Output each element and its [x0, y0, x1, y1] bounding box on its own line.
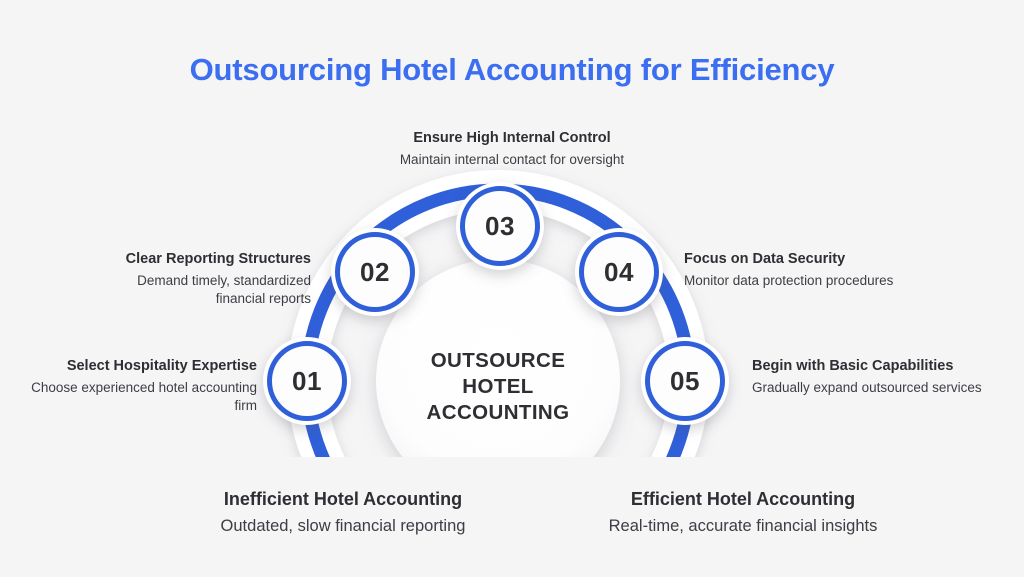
- step-ring-02: 02: [335, 232, 415, 312]
- step-callout-05: Begin with Basic Capabilities Gradually …: [752, 357, 992, 397]
- step-node-04[interactable]: 04: [575, 228, 663, 316]
- step-heading-02: Clear Reporting Structures: [85, 250, 311, 269]
- step-subtext-04: Monitor data protection procedures: [684, 272, 944, 290]
- step-node-03[interactable]: 03: [456, 182, 544, 270]
- step-subtext-02: Demand timely, standardized financial re…: [85, 272, 311, 308]
- center-label-line-1: OUTSOURCE: [393, 348, 603, 374]
- bottom-caption-heading-right: Efficient Hotel Accounting: [508, 487, 978, 511]
- step-number-04: 04: [604, 257, 634, 288]
- step-callout-01: Select Hospitality Expertise Choose expe…: [22, 357, 257, 415]
- step-ring-04: 04: [579, 232, 659, 312]
- step-number-05: 05: [670, 366, 700, 397]
- step-subtext-03: Maintain internal contact for oversight: [344, 151, 680, 169]
- step-ring-05: 05: [645, 341, 725, 421]
- center-label-line-3: ACCOUNTING: [393, 400, 603, 426]
- step-heading-05: Begin with Basic Capabilities: [752, 357, 992, 376]
- center-label-line-2: HOTEL: [393, 374, 603, 400]
- step-callout-02: Clear Reporting Structures Demand timely…: [85, 250, 311, 308]
- step-node-05[interactable]: 05: [641, 337, 729, 425]
- step-heading-01: Select Hospitality Expertise: [22, 357, 257, 376]
- step-node-02[interactable]: 02: [331, 228, 419, 316]
- step-number-01: 01: [292, 366, 322, 397]
- step-heading-04: Focus on Data Security: [684, 250, 944, 269]
- infographic-canvas: Outsourcing Hotel Accounting for Efficie…: [0, 0, 1024, 577]
- center-label: OUTSOURCE HOTEL ACCOUNTING: [393, 348, 603, 426]
- step-number-03: 03: [485, 211, 515, 242]
- bottom-caption-subtext-right: Real-time, accurate financial insights: [508, 515, 978, 537]
- step-number-02: 02: [360, 257, 390, 288]
- step-subtext-01: Choose experienced hotel accounting firm: [22, 379, 257, 415]
- step-heading-03: Ensure High Internal Control: [344, 129, 680, 148]
- step-callout-04: Focus on Data Security Monitor data prot…: [684, 250, 944, 290]
- bottom-caption-efficient: Efficient Hotel Accounting Real-time, ac…: [508, 487, 978, 537]
- step-node-01[interactable]: 01: [263, 337, 351, 425]
- step-subtext-05: Gradually expand outsourced services: [752, 379, 992, 397]
- page-title: Outsourcing Hotel Accounting for Efficie…: [0, 52, 1024, 88]
- step-ring-01: 01: [267, 341, 347, 421]
- step-callout-03: Ensure High Internal Control Maintain in…: [344, 129, 680, 169]
- step-ring-03: 03: [460, 186, 540, 266]
